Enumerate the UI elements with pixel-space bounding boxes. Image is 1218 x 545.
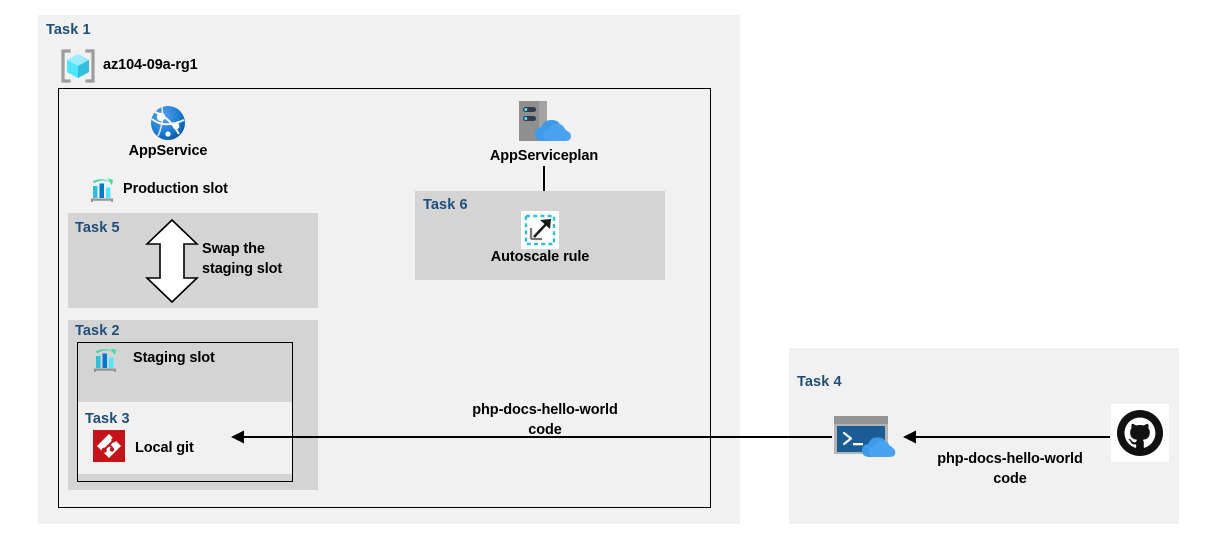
task5-label: Task 5 xyxy=(75,220,120,236)
github-to-cloudshell-arrow-line xyxy=(910,436,1110,438)
task2-label: Task 2 xyxy=(75,323,120,339)
task4-label: Task 4 xyxy=(797,374,842,390)
github-icon xyxy=(1111,404,1169,462)
swap-text-line2: staging slot xyxy=(202,261,282,277)
center-arrow-label: php-docs-hello-world code xyxy=(460,401,630,440)
autoscale-icon xyxy=(521,211,559,249)
cloud-shell-icon xyxy=(832,414,900,460)
github-to-cloudshell-arrowhead xyxy=(903,430,916,444)
staging-slot-label: Staging slot xyxy=(133,350,215,366)
app-service-plan-label: AppServiceplan xyxy=(465,148,623,164)
task1-label: Task 1 xyxy=(46,22,91,38)
app-service-plan-icon xyxy=(513,98,575,148)
app-service-icon xyxy=(148,103,188,143)
diagram-canvas: Task 1 az104-09a-rg1 xyxy=(0,0,1218,545)
task4-arrow-label: php-docs-hello-world code xyxy=(925,450,1095,489)
cloudshell-to-localgit-arrowhead xyxy=(231,430,244,444)
swap-text: Swap the staging slot xyxy=(202,240,310,279)
autoscale-rule-label: Autoscale rule xyxy=(460,249,620,265)
resource-group-icon xyxy=(60,49,96,83)
production-slot-label: Production slot xyxy=(123,181,228,197)
app-service-label: AppService xyxy=(104,143,232,159)
center-arrow-label-line1: php-docs-hello-world xyxy=(472,402,617,418)
git-icon xyxy=(93,430,125,462)
deployment-slot-icon-production xyxy=(88,175,118,205)
deployment-slot-icon-staging xyxy=(91,345,121,375)
task4-arrow-label-line1: php-docs-hello-world xyxy=(937,451,1082,467)
task3-label: Task 3 xyxy=(85,411,130,427)
swap-text-line1: Swap the xyxy=(202,241,265,257)
swap-up-down-arrow-icon xyxy=(143,218,201,304)
center-arrow-label-line2: code xyxy=(528,422,561,438)
resource-group-name: az104-09a-rg1 xyxy=(103,57,198,73)
task6-label: Task 6 xyxy=(423,197,468,213)
local-git-label: Local git xyxy=(135,440,194,456)
task4-arrow-label-line2: code xyxy=(993,471,1026,487)
